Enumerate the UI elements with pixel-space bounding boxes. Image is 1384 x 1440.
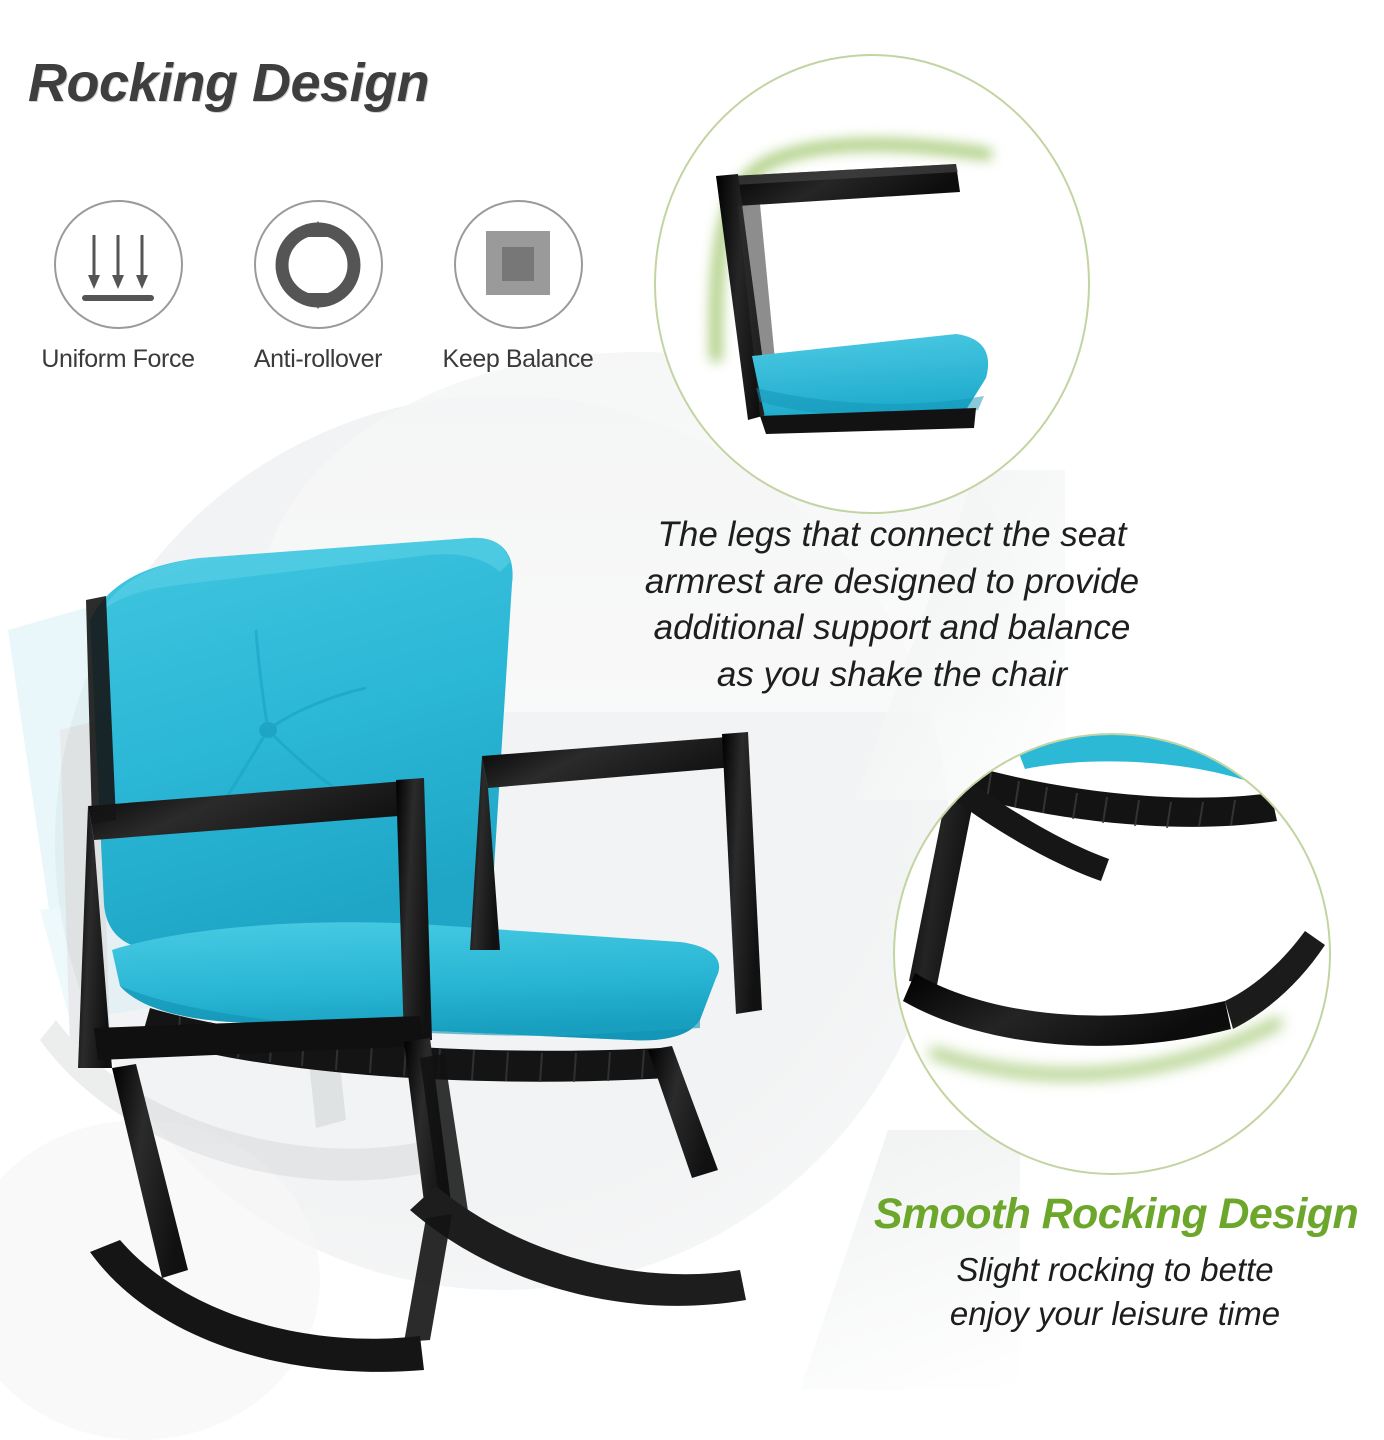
- rocker-connector: [404, 1214, 452, 1342]
- feature-icon-ring: [254, 200, 383, 329]
- smooth-rocking-heading: Smooth Rocking Design: [846, 1190, 1384, 1239]
- smooth-rocking-caption: Slight rocking to bette enjoy your leisu…: [880, 1248, 1350, 1335]
- callout-armrest-detail: [654, 54, 1090, 514]
- circular-rotation-icon: [270, 217, 366, 313]
- downward-arrows-icon: [70, 217, 166, 313]
- nested-squares-icon: [470, 217, 566, 313]
- caption-line: Slight rocking to bette: [880, 1248, 1350, 1292]
- armrest-joint-illustration: [656, 56, 1084, 508]
- feature-badge-row: Uniform Force Anti-rollover Keep Bal: [18, 200, 618, 374]
- feature-label: Keep Balance: [443, 345, 594, 374]
- infographic-canvas: Rocking Design U: [0, 0, 1384, 1384]
- rocker-runner-curve: [903, 973, 1231, 1046]
- feature-uniform-force: Uniform Force: [18, 200, 218, 374]
- back-cushion: [90, 538, 513, 950]
- feature-label: Uniform Force: [41, 345, 194, 374]
- rocker-callout-cushion: [1015, 735, 1255, 781]
- rear-far-leg: [648, 1046, 718, 1178]
- feature-icon-ring: [454, 200, 583, 329]
- feature-anti-rollover: Anti-rollover: [218, 200, 418, 374]
- callout-rocker-detail: [893, 733, 1331, 1175]
- feature-label: Anti-rollover: [254, 345, 382, 374]
- caption-line: armrest are designed to provide: [612, 559, 1172, 606]
- rocker-base-illustration: [895, 735, 1325, 1169]
- caption-line: as you shake the chair: [612, 652, 1172, 699]
- caption-line: The legs that connect the seat: [612, 512, 1172, 559]
- feature-icon-ring: [54, 200, 183, 329]
- caption-line: enjoy your leisure time: [880, 1292, 1350, 1336]
- armrest-caption: The legs that connect the seat armrest a…: [612, 512, 1172, 698]
- caption-line: additional support and balance: [612, 605, 1172, 652]
- feature-keep-balance: Keep Balance: [418, 200, 618, 374]
- page-title: Rocking Design: [28, 52, 429, 114]
- rocker-runner-tail: [1225, 931, 1325, 1029]
- rocker-runner-near: [90, 1240, 424, 1372]
